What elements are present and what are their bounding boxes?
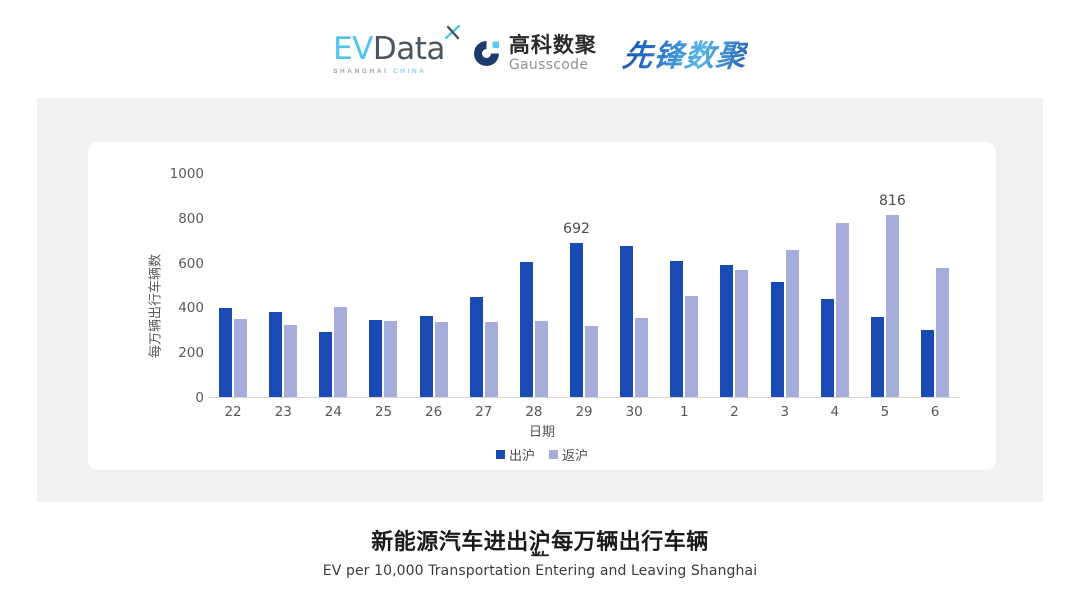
evdata-data-text: Data xyxy=(373,31,445,67)
legend-swatch xyxy=(496,450,505,459)
x-axis-line xyxy=(208,397,960,399)
bar[interactable] xyxy=(420,316,433,398)
legend-item[interactable]: 返沪 xyxy=(549,445,588,464)
bar-group xyxy=(760,174,810,398)
bar[interactable] xyxy=(520,262,533,398)
bar-group xyxy=(659,174,709,398)
bar-group: 692 xyxy=(559,174,609,398)
evdata-tagline-country: CHINA xyxy=(393,68,427,75)
bar[interactable] xyxy=(319,332,332,398)
y-tick-label: 200 xyxy=(178,345,204,361)
chart-legend: 出沪返沪 xyxy=(88,445,996,464)
x-tick-label: 24 xyxy=(308,404,358,420)
bar[interactable] xyxy=(269,312,282,398)
slide-page: EV Data SHANGHAI CHINA xyxy=(0,0,1080,608)
bar-value-label: 692 xyxy=(563,221,590,237)
bar[interactable] xyxy=(234,319,247,398)
x-tick-label: 28 xyxy=(509,404,559,420)
bar[interactable] xyxy=(219,308,232,398)
legend-label: 出沪 xyxy=(509,445,535,464)
bar-group xyxy=(609,174,659,398)
bar[interactable] xyxy=(735,270,748,398)
x-tick-label: 2 xyxy=(709,404,759,420)
bar[interactable] xyxy=(836,223,849,398)
bar[interactable] xyxy=(435,322,448,398)
bar[interactable] xyxy=(821,299,834,398)
legend-swatch xyxy=(549,450,558,459)
bar[interactable]: 692 xyxy=(570,243,583,398)
y-axis-title: 每万辆出行车辆数 xyxy=(145,254,164,358)
x-cross-icon xyxy=(444,24,461,41)
bar[interactable] xyxy=(535,321,548,398)
bar-chart: 每万辆出行车辆数 02004006008001000 692816 222324… xyxy=(88,142,996,470)
bar[interactable] xyxy=(334,307,347,398)
x-axis-title: 日期 xyxy=(88,421,996,440)
x-tick-label: 23 xyxy=(258,404,308,420)
bar-value-label: 816 xyxy=(879,193,906,209)
bar[interactable] xyxy=(670,261,683,398)
x-tick-label: 5 xyxy=(860,404,910,420)
x-tick-label: 6 xyxy=(910,404,960,420)
y-tick-label: 800 xyxy=(178,211,204,227)
bar[interactable] xyxy=(786,250,799,399)
legend-label: 返沪 xyxy=(562,445,588,464)
page-subtitle: EV per 10,000 Transportation Entering an… xyxy=(0,563,1080,579)
x-tick-label: 4 xyxy=(810,404,860,420)
bar-group xyxy=(409,174,459,398)
bar[interactable] xyxy=(384,321,397,398)
bar[interactable] xyxy=(936,268,949,398)
evdata-tagline: SHANGHAI CHINA xyxy=(333,68,426,75)
bar-group xyxy=(459,174,509,398)
gausscode-name-cn: 高科数聚 xyxy=(509,35,597,56)
evdata-ev-text: EV xyxy=(333,31,373,67)
bar[interactable] xyxy=(635,318,648,398)
y-tick-label: 0 xyxy=(195,390,204,406)
bar-group xyxy=(258,174,308,398)
bar[interactable] xyxy=(921,330,934,398)
bar[interactable] xyxy=(771,282,784,398)
legend-item[interactable]: 出沪 xyxy=(496,445,535,464)
x-tick-label: 3 xyxy=(760,404,810,420)
bar[interactable]: 816 xyxy=(886,215,899,398)
x-tick-label: 26 xyxy=(409,404,459,420)
bar[interactable] xyxy=(585,326,598,398)
bar-group: 816 xyxy=(860,174,910,398)
chart-card: 每万辆出行车辆数 02004006008001000 692816 222324… xyxy=(88,142,996,470)
bar[interactable] xyxy=(369,320,382,398)
plot-area: 02004006008001000 692816 xyxy=(208,174,960,398)
bar-groups: 692816 xyxy=(208,174,960,398)
x-tick-label: 25 xyxy=(358,404,408,420)
bar[interactable] xyxy=(720,265,733,398)
bar-group xyxy=(308,174,358,398)
x-tick-label: 22 xyxy=(208,404,258,420)
bar-group xyxy=(709,174,759,398)
gausscode-name-en: Gausscode xyxy=(509,58,597,72)
bar[interactable] xyxy=(284,325,297,398)
bar[interactable] xyxy=(871,317,884,398)
bar[interactable] xyxy=(485,322,498,398)
logo-bar: EV Data SHANGHAI CHINA xyxy=(0,22,1080,84)
bar[interactable] xyxy=(685,296,698,398)
bar[interactable] xyxy=(620,246,633,398)
bar-group xyxy=(208,174,258,398)
logo-xianfeng: 先锋数聚 xyxy=(623,31,747,75)
x-tick-label: 30 xyxy=(609,404,659,420)
footer: 新能源汽车进出沪每万辆出行车辆 数 EV per 10,000 Transpor… xyxy=(0,524,1080,579)
logo-evdata: EV Data SHANGHAI CHINA xyxy=(333,31,445,75)
bar-group xyxy=(810,174,860,398)
bar-group xyxy=(910,174,960,398)
x-tick-label: 27 xyxy=(459,404,509,420)
x-tick-label: 1 xyxy=(659,404,709,420)
bar[interactable] xyxy=(470,297,483,398)
y-tick-label: 1000 xyxy=(170,166,204,182)
bar-group xyxy=(509,174,559,398)
x-axis-ticks: 222324252627282930123456 xyxy=(208,404,960,420)
xianfeng-name-cn: 先锋数聚 xyxy=(621,31,750,75)
y-axis-ticks: 02004006008001000 xyxy=(162,174,204,398)
y-tick-label: 400 xyxy=(178,300,204,316)
gausscode-wordmark: 高科数聚 Gausscode xyxy=(509,35,597,72)
bar-group xyxy=(358,174,408,398)
g-circle-icon xyxy=(471,38,502,69)
evdata-tagline-city: SHANGHAI xyxy=(333,68,388,75)
x-tick-label: 29 xyxy=(559,404,609,420)
logo-gausscode: 高科数聚 Gausscode xyxy=(471,35,597,72)
y-tick-label: 600 xyxy=(178,256,204,272)
evdata-wordmark: EV Data xyxy=(333,31,445,67)
